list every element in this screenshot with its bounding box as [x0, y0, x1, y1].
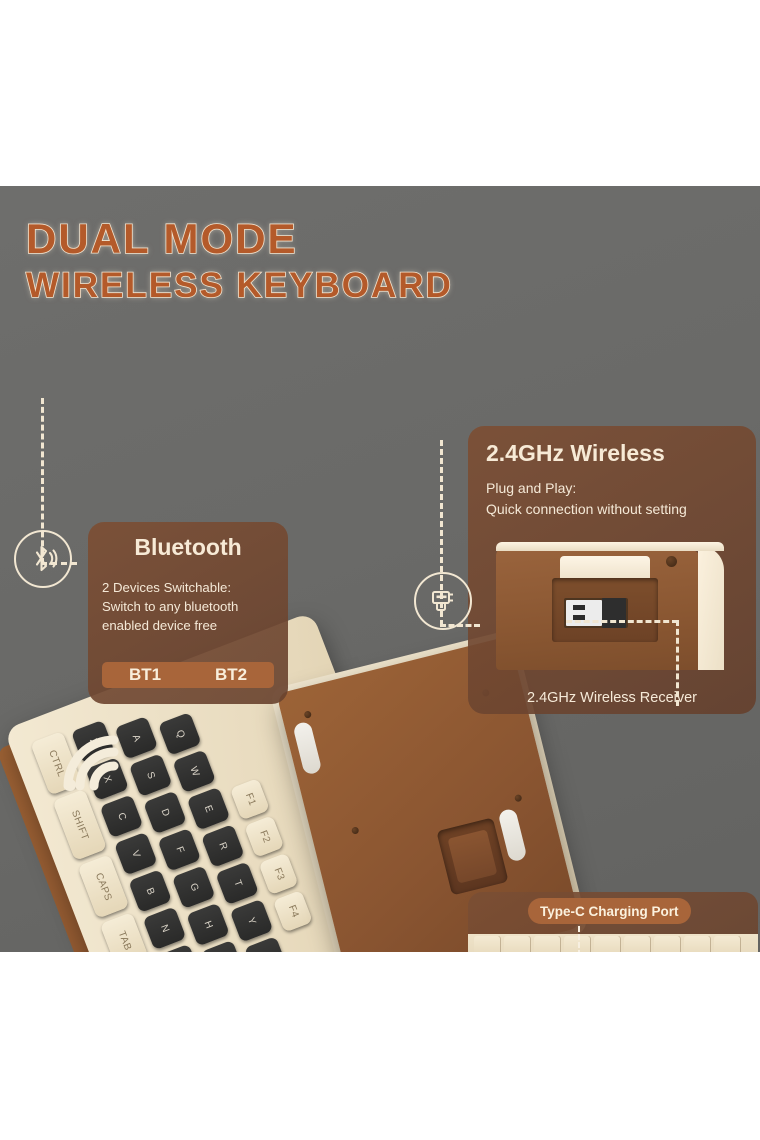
wireless-card-caption: 2.4GHz Wireless Receiver	[468, 690, 756, 706]
keycap-row	[468, 934, 758, 952]
receiver-right-edge	[698, 546, 724, 670]
keycap-letter: D	[143, 791, 187, 835]
receiver-compartment	[436, 817, 508, 895]
keycap-letter: N	[143, 906, 187, 950]
bluetooth-body-line: Switch to any bluetooth	[102, 597, 278, 616]
keycap-letter: G	[172, 865, 216, 909]
bluetooth-card-body: 2 Devices Switchable: Switch to any blue…	[102, 578, 278, 635]
wifi-waves-icon	[60, 732, 130, 794]
bluetooth-body-line: 2 Devices Switchable:	[102, 578, 278, 597]
usb-housing	[602, 598, 626, 628]
connector-typec-vertical	[676, 620, 679, 706]
keycap-f2: F2	[244, 815, 284, 857]
receiver-screw	[666, 556, 677, 567]
keycap-letter: R	[201, 824, 245, 868]
keycap-letter: T	[215, 861, 259, 905]
wireless-card-body: Plug and Play: Quick connection without …	[486, 478, 744, 520]
keycap-letter: Q	[158, 712, 202, 756]
keycap-letter: Y	[230, 899, 274, 943]
wireless-body-line: Plug and Play:	[486, 478, 744, 499]
bt2-button[interactable]: BT2	[188, 665, 274, 685]
keycap-letter: B	[128, 869, 172, 913]
gray-stage: CTRL SHIFT CAPS TAB ALT ESC Z X C V B N …	[0, 186, 760, 952]
receiver-photo	[490, 542, 734, 672]
bluetooth-info-card: Bluetooth 2 Devices Switchable: Switch t…	[88, 522, 288, 704]
keycap-letter: S	[129, 753, 173, 797]
screw-hole	[514, 794, 522, 802]
usb-glyph	[428, 586, 458, 616]
connector-typec-stem	[578, 926, 580, 952]
screw-hole	[304, 710, 312, 718]
type-c-label-pill: Type-C Charging Port	[528, 898, 691, 924]
keycap-f1: F1	[230, 778, 270, 820]
bluetooth-icon	[14, 530, 72, 588]
rubber-foot	[292, 721, 322, 776]
keycap-tab: TAB	[100, 912, 149, 952]
bluetooth-body-line: enabled device free	[102, 616, 278, 635]
keycap-letter: V	[114, 832, 158, 876]
headline-line-2: WIRELESS KEYBOARD	[26, 268, 496, 303]
page-title: DUAL MODE WIRELESS KEYBOARD	[26, 218, 496, 303]
product-infographic: CTRL SHIFT CAPS TAB ALT ESC Z X C V B N …	[0, 0, 760, 1140]
keycap-letter: C	[100, 794, 144, 838]
wireless-info-card: 2.4GHz Wireless Plug and Play: Quick con…	[468, 426, 756, 714]
wireless-card-title: 2.4GHz Wireless	[486, 440, 665, 467]
keycap-letter: H	[186, 903, 230, 947]
headline-line-1: DUAL MODE	[26, 218, 496, 260]
keycap-letter: W	[172, 749, 216, 793]
keycap-f3: F3	[258, 853, 298, 895]
keycap-letter: E	[187, 787, 231, 831]
receiver-top-edge	[496, 542, 724, 551]
bluetooth-glyph	[26, 542, 60, 576]
screw-hole	[351, 826, 359, 834]
port-photo: ON OFF power BT1 BT2 2.4G	[468, 934, 758, 952]
bluetooth-card-title: Bluetooth	[88, 534, 288, 561]
keycap-letter: F	[157, 828, 201, 872]
connector-typec-horizontal	[566, 620, 678, 623]
wireless-body-line: Quick connection without setting	[486, 499, 744, 520]
bluetooth-channel-bar[interactable]: BT1 BT2	[102, 662, 274, 688]
receiver-lid	[560, 556, 650, 578]
usb-dongle-icon	[414, 572, 472, 630]
bt1-button[interactable]: BT1	[102, 665, 188, 685]
keycap-f4: F4	[273, 890, 313, 932]
